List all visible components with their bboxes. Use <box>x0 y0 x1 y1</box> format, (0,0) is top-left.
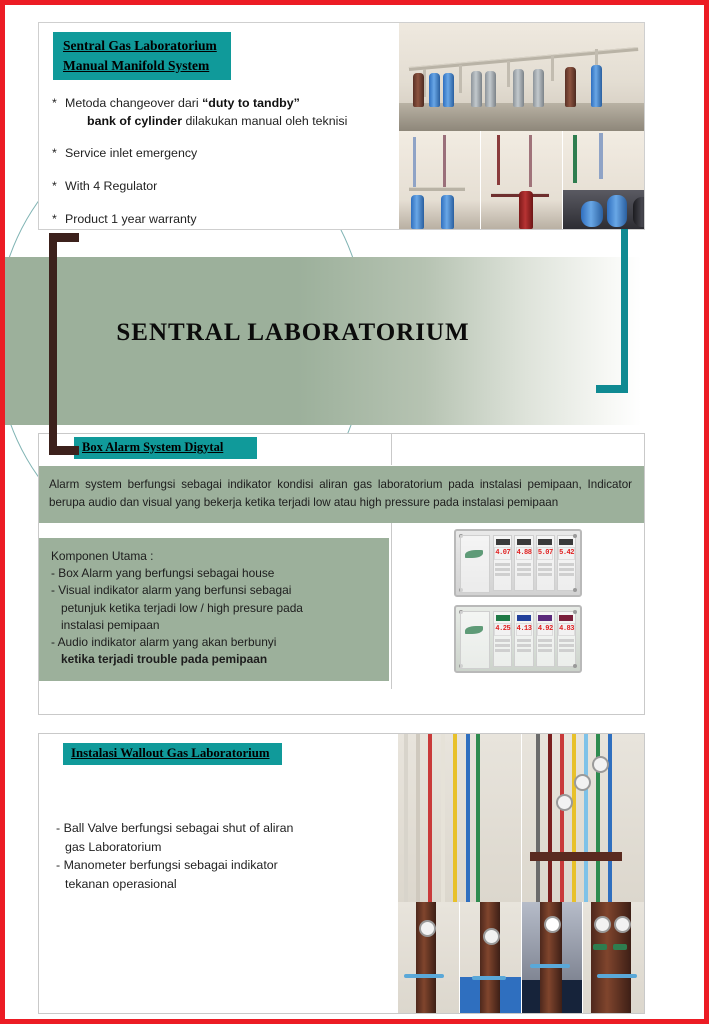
pipe-lightblue <box>584 734 588 902</box>
manifold-header-box: Sentral Gas Laboratorium Manual Manifold… <box>53 32 323 80</box>
title-band-wrapper: SENTRAL LABORATORIUM <box>5 257 709 425</box>
channel-buttons <box>495 639 509 654</box>
channel-buttons <box>559 563 573 578</box>
list-item-bold: ketika terjadi trouble pada pemipaan <box>51 651 381 668</box>
screw <box>573 534 577 538</box>
manifold-header-text: Sentral Gas Laboratorium Manual Manifold… <box>53 32 231 80</box>
pipe-white <box>404 734 408 902</box>
ball-valve <box>597 974 637 978</box>
ball-valve <box>472 976 506 980</box>
list-item: petunjuk ketika terjadi low / high presu… <box>51 600 381 617</box>
alarm-channel: 4.07 <box>493 535 512 591</box>
table-row: Box Alarm System Digytal <box>39 434 644 466</box>
list-item: gas Laboratorium <box>56 838 386 857</box>
photo-manifold-wall-room <box>399 23 644 131</box>
channel-buttons <box>517 639 531 654</box>
led-readout: 5.07 <box>537 547 553 560</box>
wallout-header-text: Instalasi Wallout Gas Laboratorium <box>63 743 282 765</box>
gas-cylinder <box>485 71 496 107</box>
pipe <box>409 187 465 191</box>
photo-manometer-board-4 <box>582 902 644 1013</box>
brand-logo-icon <box>460 611 490 669</box>
pipe-yellow <box>572 734 576 902</box>
channel-tag <box>496 539 510 545</box>
alarm-channel: 4.92 <box>536 611 555 667</box>
slide-canvas: Sentral Gas Laboratorium Manual Manifold… <box>5 5 704 1019</box>
page-title: SENTRAL LABORATORIUM <box>5 319 641 347</box>
pipe <box>497 135 500 185</box>
alarm-channel: 4.25 <box>493 611 512 667</box>
channel-tag <box>496 615 510 621</box>
components-bold-text: ketika terjadi trouble pada pemipaan <box>61 652 267 666</box>
list-item: tekanan operasional <box>56 875 386 894</box>
alarm-header-cell: Box Alarm System Digytal <box>39 434 391 465</box>
gas-cylinder <box>411 195 424 229</box>
pipe <box>443 135 446 189</box>
pipe <box>529 135 532 187</box>
wallout-photo-grid <box>398 734 644 1013</box>
list-item: Metoda changeover dari “duty to tandby” … <box>51 95 411 129</box>
photo-manifold-tanks <box>562 131 644 229</box>
led-readout: 4.92 <box>537 623 553 636</box>
screw <box>573 588 577 592</box>
photo-manifold-red-cylinder <box>480 131 562 229</box>
brand-logo-icon <box>460 535 490 593</box>
list-item: - Manometer berfungsi sebagai indikator <box>56 856 386 875</box>
bullet-1-text-a: Metoda changeover dari <box>65 96 202 110</box>
gas-cylinder <box>591 65 602 107</box>
pipe-grey <box>536 734 540 902</box>
alarm-photos-cell: 4.07 4.88 5.07 5.42 4.25 4.1 <box>391 523 644 689</box>
gas-cylinder <box>443 73 454 107</box>
tank <box>581 201 603 227</box>
section-box-alarm: Box Alarm System Digytal Alarm system be… <box>38 433 645 715</box>
manifold-bullet-list: Metoda changeover dari “duty to tandby” … <box>51 95 411 244</box>
section-manual-manifold: Sentral Gas Laboratorium Manual Manifold… <box>38 22 645 230</box>
alarm-header-text: Box Alarm System Digytal <box>74 437 257 459</box>
bracket-left-decoration <box>49 233 79 455</box>
wallout-photo-row <box>398 734 644 902</box>
pipe-red <box>560 734 564 902</box>
channel-tag <box>559 615 573 621</box>
manometer <box>544 916 561 933</box>
list-item: Product 1 year warranty <box>51 211 411 228</box>
gas-cylinder <box>441 195 454 229</box>
alarm-components-box: Komponen Utama : - Box Alarm yang berfun… <box>39 538 389 681</box>
bullet-1-bold-a: “duty to tandby” <box>202 96 300 110</box>
pipe-header-rail <box>530 852 622 861</box>
alarm-channel: 4.83 <box>557 611 576 667</box>
pipe-grey <box>416 734 420 902</box>
alarm-panel-photos: 4.07 4.88 5.07 5.42 4.25 4.1 <box>392 529 644 673</box>
drop-pipe <box>459 65 462 93</box>
alarm-components-cell: Komponen Utama : - Box Alarm yang berfun… <box>39 523 391 689</box>
photo-colored-gas-pipes <box>398 734 521 902</box>
led-readout: 4.25 <box>494 623 510 636</box>
channel-tag <box>538 615 552 621</box>
gas-cylinder <box>413 73 424 107</box>
led-readout: 5.42 <box>558 547 574 560</box>
gas-label <box>613 944 627 950</box>
photo-manifold-blue-cylinders <box>399 131 480 229</box>
led-readout: 4.83 <box>558 623 574 636</box>
pipe-blue <box>608 734 612 902</box>
gas-cylinder <box>533 69 544 107</box>
wallout-photo-row <box>398 902 644 1013</box>
channel-buttons <box>559 639 573 654</box>
pipe-blue <box>466 734 470 902</box>
pipe-white <box>441 734 445 902</box>
led-readout: 4.88 <box>516 547 532 560</box>
channel-buttons <box>517 563 531 578</box>
alarm-header-cell-right <box>391 434 644 465</box>
tank <box>607 195 627 227</box>
pipe-red <box>428 734 432 902</box>
pipe-yellow <box>453 734 457 902</box>
ceiling-rail-pipe <box>409 47 638 71</box>
gas-cylinder <box>565 67 576 107</box>
room-floor <box>399 103 644 131</box>
channel-tag <box>559 539 573 545</box>
wallout-body-text: - Ball Valve berfungsi sebagai shut of a… <box>56 819 386 893</box>
photo-alarm-panel-green: 4.25 4.13 4.92 4.83 <box>454 605 582 673</box>
list-item: - Audio indikator alarm yang akan berbun… <box>51 634 381 651</box>
bullet-1-text-b: dilakukan manual oleh teknisi <box>182 114 347 128</box>
manometer <box>483 928 500 945</box>
channel-buttons <box>538 639 552 654</box>
drop-pipe <box>551 55 554 81</box>
channel-buttons <box>495 563 509 578</box>
pipe <box>573 135 577 183</box>
channel-tag <box>517 615 531 621</box>
list-item: Service inlet emergency <box>51 145 411 162</box>
slide-page: Sentral Gas Laboratorium Manual Manifold… <box>0 0 709 1024</box>
title-band-gradient: SENTRAL LABORATORIUM <box>5 257 641 425</box>
photo-alarm-panel-red: 4.07 4.88 5.07 5.42 <box>454 529 582 597</box>
pressure-gauge <box>592 756 609 773</box>
alarm-channel: 5.07 <box>536 535 555 591</box>
pressure-gauge <box>556 794 573 811</box>
floor <box>563 190 644 229</box>
bracket-top-arm <box>49 233 79 242</box>
pressure-gauge <box>574 774 591 791</box>
components-title: Komponen Utama : <box>51 548 381 565</box>
table-row: Komponen Utama : - Box Alarm yang berfun… <box>39 523 644 689</box>
bracket-bottom-arm <box>596 385 628 393</box>
pipe-maroon <box>548 734 552 902</box>
screw <box>573 610 577 614</box>
manifold-photo-grid <box>399 23 644 229</box>
bullet-1-bold-b: bank of cylinder <box>87 114 182 128</box>
led-readout: 4.07 <box>494 547 510 560</box>
bracket-bottom-arm <box>49 446 79 455</box>
bullet-1-line-2: bank of cylinder dilakukan manual oleh t… <box>65 113 411 130</box>
wood-board <box>480 902 500 1013</box>
gas-cylinder <box>513 69 524 107</box>
channel-buttons <box>538 563 552 578</box>
gas-label <box>593 944 607 950</box>
photo-manometer-board-2 <box>459 902 521 1013</box>
ball-valve <box>404 974 444 978</box>
manifold-header-line-2: Manual Manifold System <box>63 56 217 76</box>
section-instalasi-wallout: Instalasi Wallout Gas Laboratorium - Bal… <box>38 733 645 1014</box>
photo-manometer-board-1 <box>398 902 459 1013</box>
alarm-description-text: Alarm system berfungsi sebagai indikator… <box>49 478 632 509</box>
wood-board <box>416 902 436 1013</box>
photo-manometer-board-3 <box>521 902 583 1013</box>
manifold-header-line-1: Sentral Gas Laboratorium <box>63 36 217 56</box>
list-item: - Box Alarm yang berfungsi sebagai house <box>51 565 381 582</box>
list-item: With 4 Regulator <box>51 178 411 195</box>
ball-valve <box>530 964 570 968</box>
list-item: - Visual indikator alarm yang berfunsi s… <box>51 582 381 599</box>
alarm-channel: 4.88 <box>514 535 533 591</box>
gas-cylinder <box>471 71 482 107</box>
channel-tag <box>517 539 531 545</box>
tank <box>633 197 644 227</box>
pipe <box>599 133 603 179</box>
bracket-right-decoration <box>612 229 644 393</box>
led-readout: 4.13 <box>516 623 532 636</box>
manometer <box>419 920 436 937</box>
manifold-photo-row <box>399 131 644 229</box>
alarm-channel: 5.42 <box>557 535 576 591</box>
alarm-description-bar: Alarm system berfungsi sebagai indikator… <box>39 466 644 523</box>
pipe-green <box>476 734 480 902</box>
gas-cylinder <box>519 191 533 229</box>
list-item: instalasi pemipaan <box>51 617 381 634</box>
gas-cylinder <box>429 73 440 107</box>
drop-pipe <box>507 61 510 87</box>
list-item: - Ball Valve berfungsi sebagai shut of a… <box>56 819 386 838</box>
alarm-channel: 4.13 <box>514 611 533 667</box>
channel-tag <box>538 539 552 545</box>
screw <box>573 664 577 668</box>
photo-pipe-manifold-valves <box>521 734 645 902</box>
pipe <box>413 137 416 189</box>
